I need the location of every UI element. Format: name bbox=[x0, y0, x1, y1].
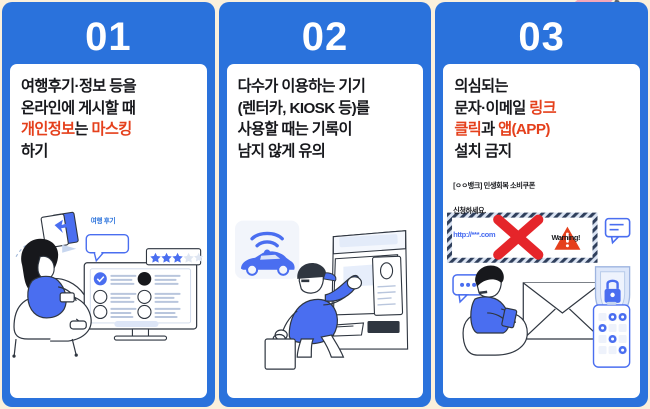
connected-car-card bbox=[235, 221, 299, 279]
panel-02-card: 다수가 이용하는 기기 (렌터카, KIOSK 등)를 사용할 때는 기록이 남… bbox=[227, 64, 424, 398]
speech-bubble-text: 여행 후기 bbox=[91, 215, 116, 225]
panel-02: 02 다수가 이용하는 기기 (렌터카, KIOSK 등)를 사용할 때는 기록… bbox=[219, 2, 432, 407]
headline-line-1: 의심되는 bbox=[454, 78, 508, 95]
luggage-bag bbox=[265, 335, 295, 370]
headline-line-1: 다수가 이용하는 기기 bbox=[238, 78, 366, 95]
headline-line-2: 문자·이메일 bbox=[454, 100, 529, 117]
headline-line-4: 설치 금지 bbox=[454, 143, 511, 160]
sms-line-1: [ㅇㅇ뱅크] 민생회복 소비쿠폰 bbox=[453, 181, 535, 191]
panel-03-headline: 의심되는 문자·이메일 링크 클릭과 앱(APP) 설치 금지 bbox=[443, 64, 640, 166]
headline-line-4: 남지 않게 유의 bbox=[238, 143, 325, 160]
headline-line-3-mid: 과 bbox=[481, 121, 498, 138]
panel-03-card: 의심되는 문자·이메일 링크 클릭과 앱(APP) 설치 금지 bbox=[443, 64, 640, 398]
headline-highlight-1: 링크 bbox=[529, 100, 556, 117]
card-slot bbox=[367, 321, 399, 333]
mask-line bbox=[479, 292, 487, 293]
panel-02-illustration bbox=[227, 168, 424, 398]
smartphone-app-grid bbox=[594, 302, 630, 367]
chat-bubble-icon bbox=[606, 219, 630, 243]
illustration-svg-01 bbox=[10, 168, 207, 398]
headline-highlight-3: 앱(APP) bbox=[498, 121, 550, 138]
panel-03: 03 의심되는 문자·이메일 링크 클릭과 앱(APP) 설치 금지 bbox=[435, 2, 648, 407]
panel-01-illustration: 여행 후기 bbox=[10, 168, 207, 398]
illustration-svg-03 bbox=[443, 168, 640, 398]
illustration-svg-02 bbox=[227, 168, 424, 398]
sms-line-2: 신청하세요. bbox=[453, 206, 486, 216]
headline-line-3: 사용할 때는 기록이 bbox=[238, 121, 352, 138]
headline-line-4: 하기 bbox=[21, 143, 48, 160]
sms-warning-label: Warning! bbox=[552, 233, 581, 242]
panel-03-number: 03 bbox=[443, 10, 640, 64]
headline-highlight-2: 마스킹 bbox=[92, 121, 132, 138]
trail-arrow bbox=[62, 245, 76, 253]
speech-bubble bbox=[86, 235, 128, 261]
masked-dot bbox=[138, 272, 152, 286]
headline-highlight-2: 클릭 bbox=[454, 121, 481, 138]
cap bbox=[297, 263, 326, 279]
headline-line-1: 여행후기·정보 등을 bbox=[21, 78, 136, 95]
headline-line-2: (렌터카, KIOSK 등)를 bbox=[238, 100, 370, 117]
panel-01-number: 01 bbox=[10, 10, 207, 64]
smartphone bbox=[60, 293, 74, 302]
headline-highlight-1: 개인정보 bbox=[21, 121, 75, 138]
sms-line-url: http://***.com bbox=[453, 230, 495, 239]
hand bbox=[347, 277, 361, 289]
panel-01-headline: 여행후기·정보 등을 온라인에 게시할 때 개인정보는 마스킹 하기 bbox=[10, 64, 207, 166]
envelope-icon bbox=[524, 283, 602, 339]
star-rating bbox=[146, 249, 203, 265]
panel-02-number: 02 bbox=[227, 10, 424, 64]
panel-01-card: 여행후기·정보 등을 온라인에 게시할 때 개인정보는 마스킹 하기 bbox=[10, 64, 207, 398]
panel-03-illustration: [ㅇㅇ뱅크] 민생회복 소비쿠폰 신청하세요. http://***.com W… bbox=[443, 168, 640, 398]
receipt-tray bbox=[333, 323, 363, 336]
panel-row: 01 여행후기·정보 등을 온라인에 게시할 때 개인정보는 마스킹 하기 bbox=[0, 0, 650, 409]
headline-line-3-mid: 는 bbox=[75, 121, 92, 138]
infographic-canvas: 01 여행후기·정보 등을 온라인에 게시할 때 개인정보는 마스킹 하기 bbox=[0, 0, 650, 409]
panel-02-headline: 다수가 이용하는 기기 (렌터카, KIOSK 등)를 사용할 때는 기록이 남… bbox=[227, 64, 424, 166]
panel-01: 01 여행후기·정보 등을 온라인에 게시할 때 개인정보는 마스킹 하기 bbox=[2, 2, 215, 407]
headline-line-2: 온라인에 게시할 때 bbox=[21, 100, 135, 117]
